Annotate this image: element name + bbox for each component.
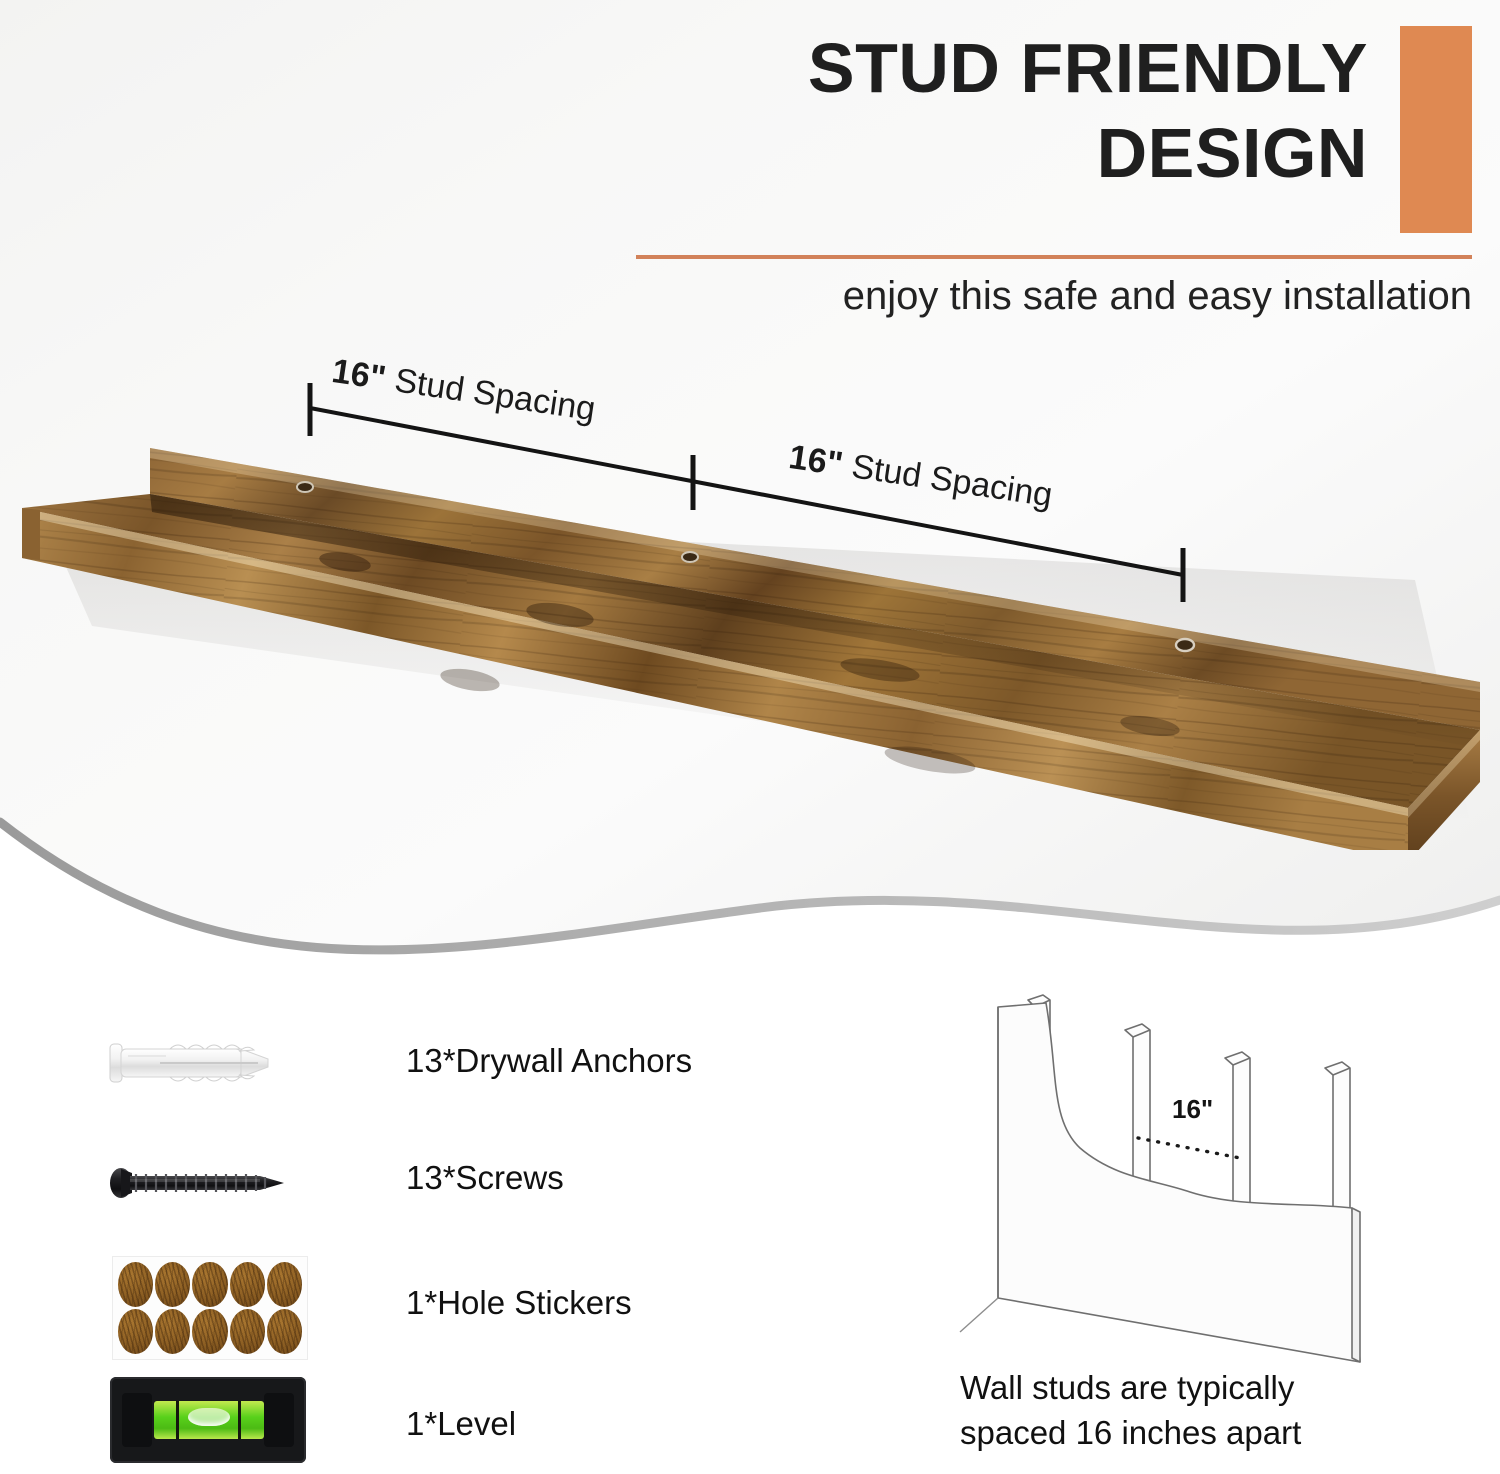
stud-measure-line (1138, 1138, 1240, 1158)
shelf-svg (0, 430, 1500, 850)
accessories-list: 13*Drywall Anchors (100, 1008, 740, 1474)
drywall-anchor-icon (100, 1008, 340, 1118)
mounting-hole (682, 552, 698, 563)
screw-svg (108, 1157, 288, 1209)
hole-sticker-sheet-icon (100, 1246, 340, 1356)
stud-spacing-value-2: 16" (786, 438, 845, 483)
sticker-sheet (112, 1256, 308, 1360)
stud-measure-label: 16" (1172, 1094, 1213, 1124)
sticker-dot (118, 1309, 153, 1354)
accessory-label: 13*Screws (406, 1159, 564, 1197)
level-bubble (188, 1408, 230, 1426)
accessory-label: 1*Level (406, 1405, 516, 1443)
list-item: 1*Level (100, 1365, 740, 1474)
subtitle: enjoy this safe and easy installation (552, 274, 1472, 319)
level-body (110, 1377, 306, 1463)
level-end-cap (122, 1393, 152, 1447)
sticker-dot (267, 1262, 302, 1307)
mounting-hole (1176, 639, 1194, 652)
sticker-dot (230, 1309, 265, 1354)
sticker-dot (118, 1262, 153, 1307)
accessory-label: 13*Drywall Anchors (406, 1042, 692, 1080)
sticker-dot (155, 1309, 190, 1354)
stud-diagram-caption: Wall studs are typically spaced 16 inche… (960, 1366, 1490, 1456)
list-item: 1*Hole Stickers (100, 1246, 740, 1365)
level-vial (154, 1401, 264, 1439)
product-infographic: STUD FRIENDLY DESIGN enjoy this safe and… (0, 0, 1500, 1474)
sticker-dot (155, 1262, 190, 1307)
level-mark (238, 1401, 241, 1439)
divider-rule (636, 255, 1472, 259)
list-item: 13*Screws (100, 1127, 740, 1246)
stud-spacing-value-1: 16" (329, 352, 388, 397)
sticker-dot (192, 1262, 227, 1307)
page-title-line2: DESIGN (568, 111, 1368, 196)
level-mark (176, 1401, 179, 1439)
bubble-level-icon (100, 1365, 340, 1474)
list-item: 13*Drywall Anchors (100, 1008, 740, 1127)
shelf-product-image (0, 430, 1500, 850)
drywall-anchor-svg (108, 1032, 276, 1094)
sticker-dot (230, 1262, 265, 1307)
accessory-label: 1*Hole Stickers (406, 1284, 632, 1322)
stud-caption-line2: spaced 16 inches apart (960, 1411, 1490, 1456)
wall-stud-diagram: 16" (940, 980, 1500, 1365)
accent-bar (1400, 26, 1472, 233)
page-title-line1: STUD FRIENDLY (808, 29, 1368, 107)
level-end-cap (264, 1393, 294, 1447)
screw-icon (100, 1127, 340, 1237)
mounting-hole (297, 482, 313, 493)
wall-stud-svg: 16" (940, 980, 1500, 1365)
sticker-dot (192, 1309, 227, 1354)
sticker-dot (267, 1309, 302, 1354)
stud-caption-line1: Wall studs are typically (960, 1366, 1490, 1411)
page-title: STUD FRIENDLY DESIGN (568, 26, 1368, 197)
